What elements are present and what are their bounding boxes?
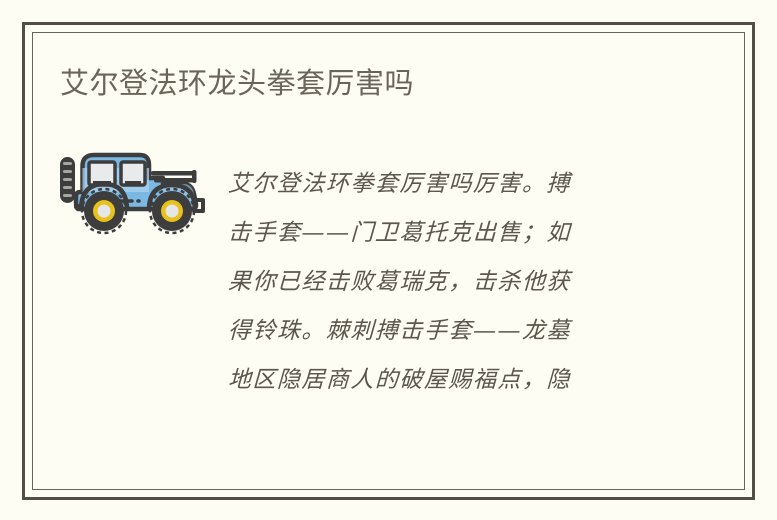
body-line: 得铃珠。棘刺搏击手套——龙墓 [227, 307, 661, 356]
body-line: 果你已经击败葛瑞克，击杀他获 [227, 258, 661, 307]
page-title: 艾尔登法环龙头拳套厉害吗 [60, 64, 414, 104]
body-line: 艾尔登法环拳套厉害吗厉害。搏 [227, 160, 661, 209]
article-card: 艾尔登法环龙头拳套厉害吗 [0, 0, 777, 520]
article-body: 艾尔登法环拳套厉害吗厉害。搏 击手套——门卫葛托克出售；如 果你已经击败葛瑞克，… [228, 160, 660, 405]
jeep-icon [56, 148, 212, 238]
body-line: 地区隐居商人的破屋赐福点，隐 [227, 356, 661, 405]
article-content: 艾尔登法环拳套厉害吗厉害。搏 击手套——门卫葛托克出售；如 果你已经击败葛瑞克，… [56, 146, 676, 426]
body-line: 击手套——门卫葛托克出售；如 [227, 209, 661, 258]
